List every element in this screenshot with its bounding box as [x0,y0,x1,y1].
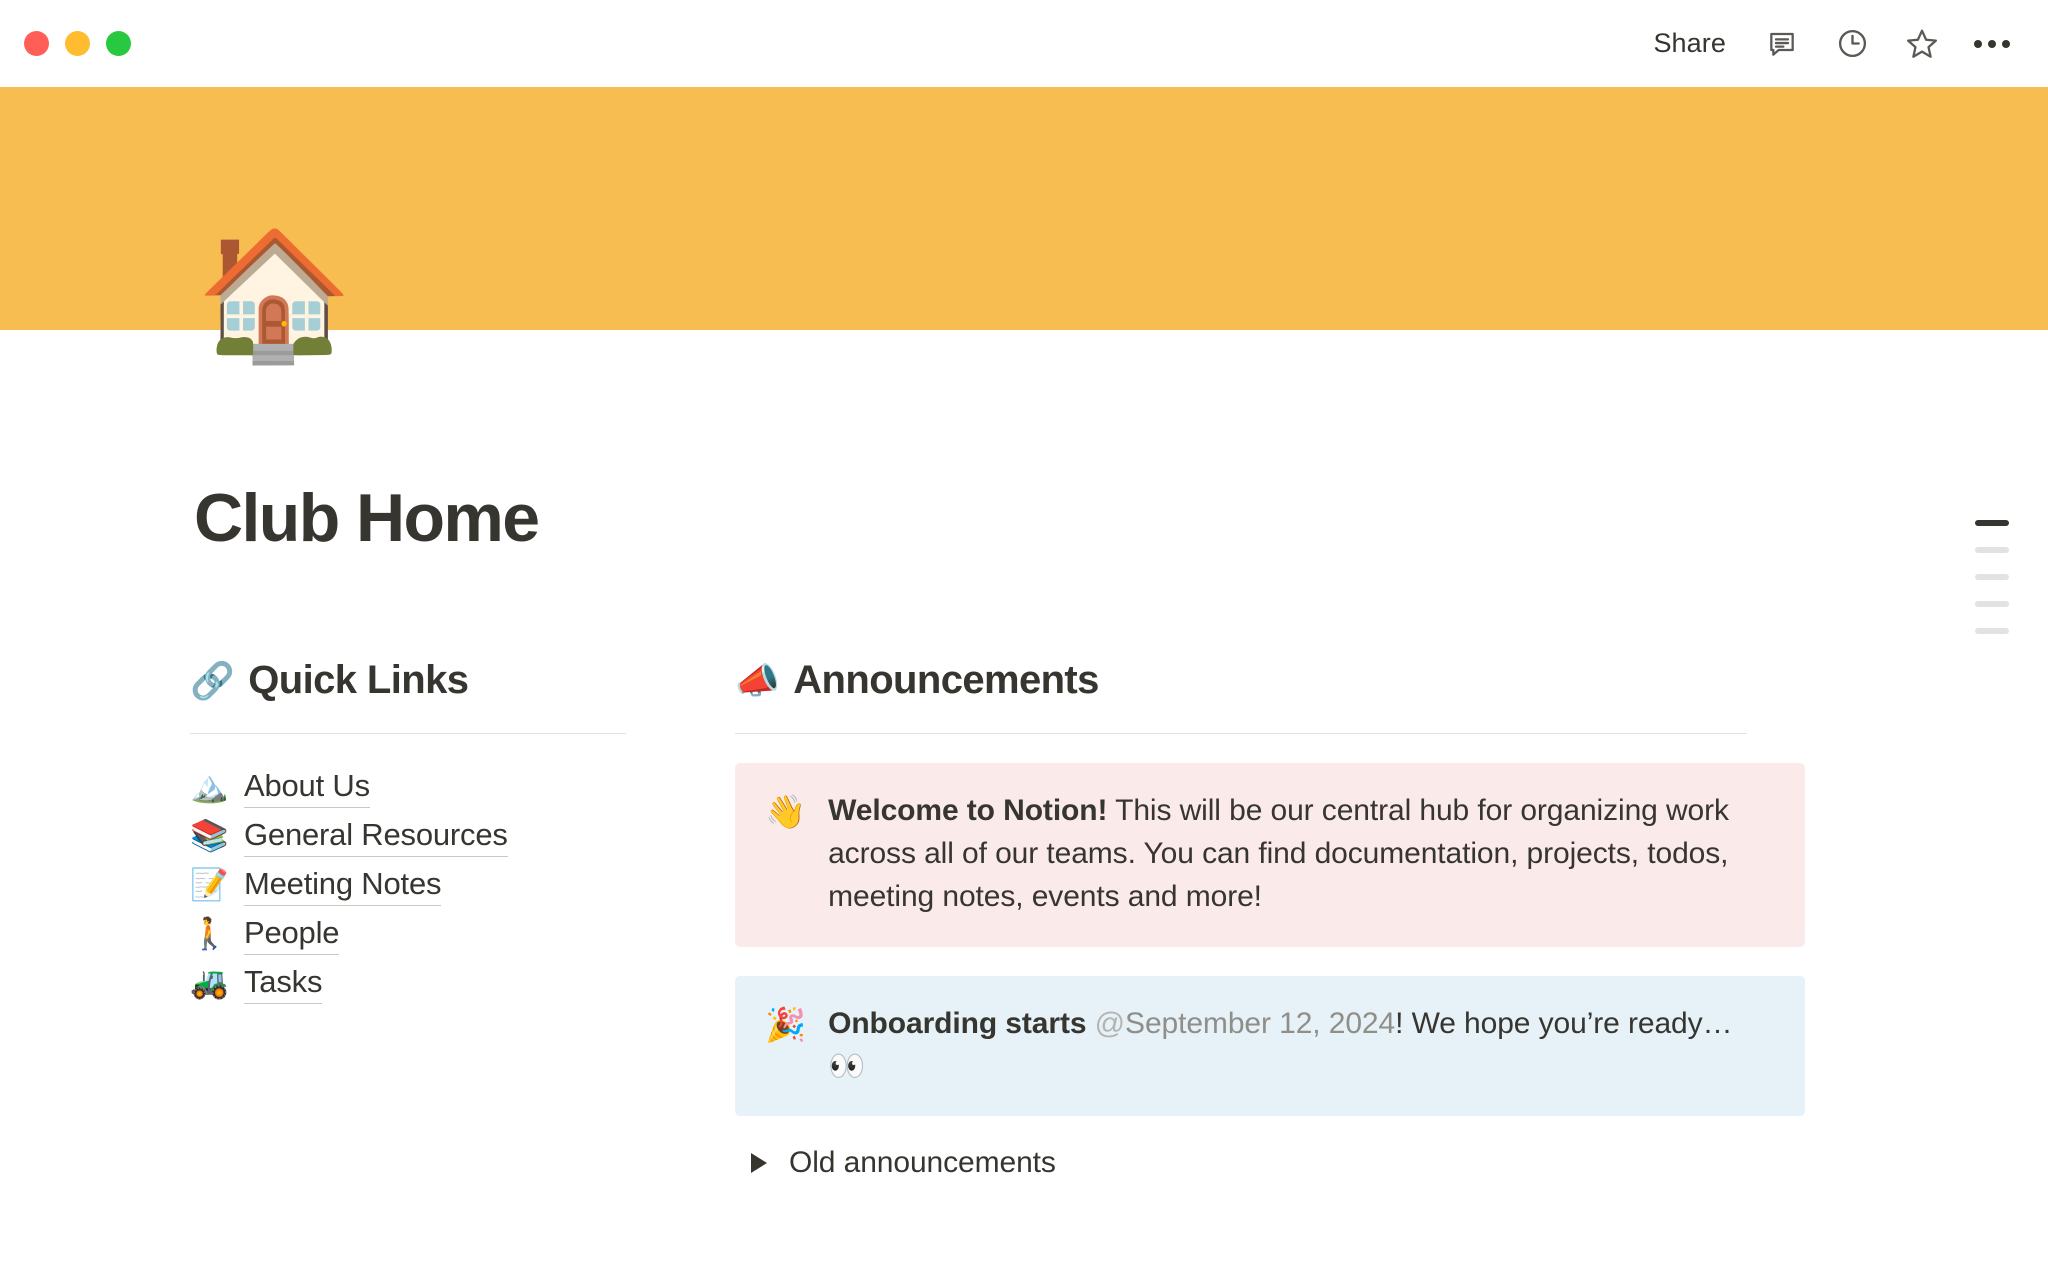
maximize-window-button[interactable] [106,31,131,56]
table-of-contents-rail [1975,520,2009,634]
quick-link-meeting-notes[interactable]: 📝 Meeting Notes [190,861,640,910]
callout-welcome-text: Welcome to Notion! This will be our cent… [828,789,1775,919]
dot [1974,40,1982,48]
mention-date: September 12, 2024 [1125,1007,1395,1040]
page-icon[interactable]: 🏠 [196,232,353,358]
quick-link-people[interactable]: 🚶 People [190,910,640,959]
toc-bar-active[interactable] [1975,520,2009,526]
quick-link-about-us[interactable]: 🏔️ About Us [190,763,640,812]
page-title[interactable]: Club Home [194,481,539,556]
dot [2002,40,2010,48]
toggle-old-announcements-label: Old announcements [789,1146,1056,1180]
callout-onboarding[interactable]: 🎉 Onboarding starts @September 12, 2024!… [735,976,1805,1116]
window-controls [24,31,131,56]
memo-icon: 📝 [190,870,228,901]
quick-links-heading: 🔗 Quick Links [190,655,640,705]
quick-link-general-resources[interactable]: 📚 General Resources [190,812,640,861]
quick-link-label: About Us [244,767,370,808]
app-window: Share [0,0,2048,1280]
page-body: Club Home 🔗 Quick Links 🏔️ About Us 📚 [0,330,2048,1280]
more-dots [1974,40,2010,48]
toc-bar[interactable] [1975,601,2009,607]
waving-hand-icon: 👋 [765,789,806,919]
toc-bar[interactable] [1975,574,2009,580]
quick-link-label: People [244,914,339,955]
title-bar-actions: Share [1647,24,2012,64]
announcements-column: 📣 Announcements 👋 Welcome to Notion! Thi… [735,655,1805,1180]
star-icon[interactable] [1902,24,1942,64]
announcements-heading: 📣 Announcements [735,655,1805,705]
quick-link-label: Meeting Notes [244,865,441,906]
mountain-icon: 🏔️ [190,772,228,803]
callout-onboarding-text: Onboarding starts @September 12, 2024! W… [828,1002,1775,1088]
callout-welcome-bold: Welcome to Notion! [828,794,1107,827]
tractor-icon: 🚜 [190,968,228,999]
callout-welcome[interactable]: 👋 Welcome to Notion! This will be our ce… [735,763,1805,947]
toc-bar[interactable] [1975,547,2009,553]
books-icon: 📚 [190,821,228,852]
announcements-heading-label: Announcements [793,655,1099,705]
quick-links-list: 🏔️ About Us 📚 General Resources 📝 Meetin… [190,763,640,1008]
content-columns: 🔗 Quick Links 🏔️ About Us 📚 General Reso… [0,655,2048,1180]
share-button[interactable]: Share [1647,24,1732,63]
callout-onboarding-bold: Onboarding starts [828,1007,1086,1040]
chevron-right-icon[interactable] [751,1153,767,1173]
dot [1988,40,1996,48]
walking-person-icon: 🚶 [190,919,228,950]
party-popper-icon: 🎉 [765,1002,806,1088]
toc-bar[interactable] [1975,628,2009,634]
comment-icon[interactable] [1762,24,1802,64]
toggle-old-announcements[interactable]: Old announcements [735,1146,1805,1180]
more-icon[interactable] [1972,24,2012,64]
date-mention[interactable]: @September 12, 2024 [1095,1007,1395,1040]
close-window-button[interactable] [24,31,49,56]
quick-link-label: General Resources [244,816,508,857]
quick-link-tasks[interactable]: 🚜 Tasks [190,959,640,1008]
minimize-window-button[interactable] [65,31,90,56]
quick-links-column: 🔗 Quick Links 🏔️ About Us 📚 General Reso… [190,655,640,1180]
title-bar: Share [0,0,2048,87]
quick-links-heading-label: Quick Links [248,655,468,705]
megaphone-icon: 📣 [735,659,779,704]
link-icon: 🔗 [190,659,234,704]
announcements-divider [735,733,1747,734]
quick-link-label: Tasks [244,963,322,1004]
mention-at: @ [1095,1007,1125,1040]
quick-links-divider [190,733,626,734]
history-icon[interactable] [1832,24,1872,64]
